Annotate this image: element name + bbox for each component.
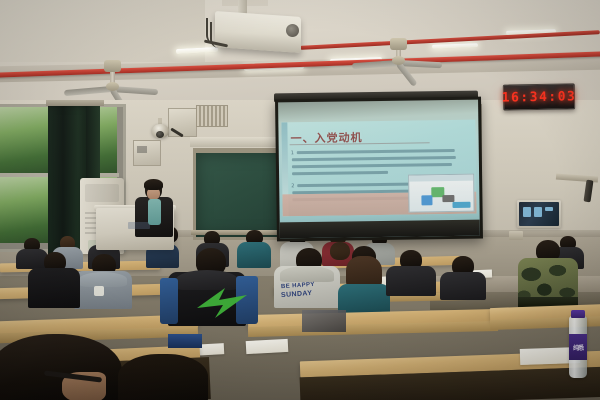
screen-bottom-bar: [280, 220, 480, 239]
student-body: [386, 266, 436, 296]
camera-lens-icon: [156, 131, 164, 138]
slide-popup-dialog[interactable]: [408, 174, 475, 213]
presentation-slide: 一、入党动机 1 2: [281, 120, 476, 217]
av-control-panel[interactable]: [517, 200, 561, 228]
projector-lens-icon: [286, 24, 299, 37]
ceiling-slab: [0, 0, 205, 62]
popup-icon: [421, 195, 432, 205]
slide-bullet-marker: 2: [291, 183, 294, 189]
paper-sheet: [246, 339, 289, 354]
projection-screen: 一、入党动机 1 2: [275, 97, 483, 242]
student-bag: [302, 310, 346, 332]
popup-confirm-button[interactable]: [452, 202, 470, 208]
water-bottle-label-text: 纯悉: [573, 343, 583, 352]
ceiling-fan-hub: [392, 56, 405, 65]
water-bottle-label: 纯悉: [569, 334, 587, 360]
student-body: [237, 242, 271, 268]
classroom-photo: 一、入党动机 1 2: [0, 0, 600, 400]
hoodie-hood: [280, 266, 334, 282]
ceiling-fan-motor: [104, 60, 121, 72]
projection-screen-surface: 一、入党动机 1 2: [278, 100, 480, 239]
window-pane: [0, 177, 51, 243]
podium-logo: [128, 222, 150, 229]
av-panel-screen[interactable]: [519, 202, 559, 226]
student-foreground-head-2: [118, 354, 208, 400]
ac-display-panel: [85, 184, 119, 202]
ceiling-fan-hub: [106, 82, 119, 91]
window-pane: [0, 107, 51, 173]
student-body: [28, 268, 80, 308]
wall-speaker-grille: [196, 105, 228, 127]
hoodie-hood: [79, 272, 127, 287]
presenter-hair: [144, 179, 163, 190]
hoodie-logo-patch: [94, 286, 104, 296]
wall-equipment-box: [168, 108, 197, 137]
student-head: [330, 242, 350, 260]
desk-item-blue: [168, 334, 202, 348]
led-wall-clock: 16:34:03: [503, 83, 575, 110]
presenter-shirt: [148, 199, 161, 225]
junction-box-vent: [137, 146, 147, 153]
wall-power-socket[interactable]: [509, 231, 523, 240]
curtain-rail: [46, 100, 104, 106]
clock-time-text: 16:34:03: [502, 89, 577, 105]
student-body: [440, 272, 486, 300]
water-bottle-cap[interactable]: [571, 310, 585, 318]
student-sleeve: [160, 278, 178, 324]
slide-bullet-marker: 1: [291, 150, 294, 156]
popup-titlebar: [409, 175, 473, 182]
wall-junction-box: [133, 140, 161, 166]
ceiling-fan-motor: [390, 38, 407, 50]
